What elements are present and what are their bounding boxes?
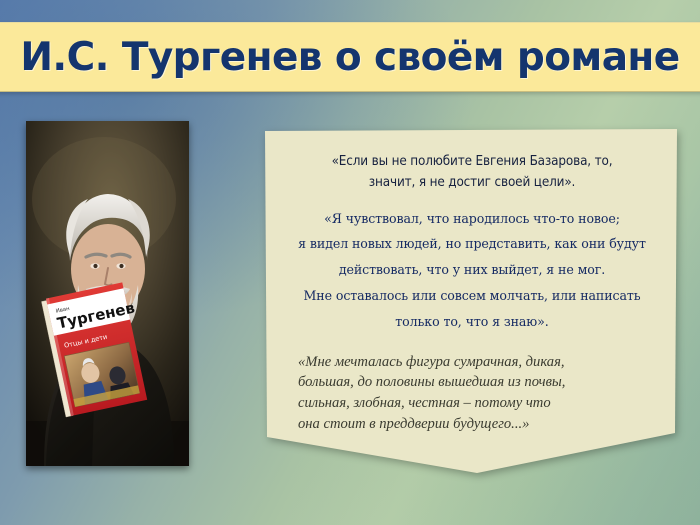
- quote-line: «Я чувствовал, что народилось что-то нов…: [276, 206, 668, 232]
- turgenev-portrait: Иван Тургенев Отцы и дети: [26, 121, 189, 466]
- quote-line: действовать, что у них выйдет, я не мог.: [276, 257, 668, 283]
- portrait-image: Иван Тургенев Отцы и дети: [26, 121, 189, 466]
- quote-line: «Если вы не полюбите Евгения Базарова, т…: [286, 152, 658, 173]
- quote-line: «Мне мечталась фигура сумрачная, дикая,: [298, 352, 662, 373]
- quote-block-1: «Если вы не полюбите Евгения Базарова, т…: [272, 136, 672, 194]
- quote-line: Мне оставалось или совсем молчать, или н…: [276, 283, 668, 309]
- quote-line: только то, что я знаю».: [276, 309, 668, 335]
- quote-line: большая, до половины вышедшая из почвы,: [298, 372, 662, 393]
- slide-canvas: И.С. Тургенев о своём романе: [0, 0, 700, 525]
- quote-block-3: «Мне мечталась фигура сумрачная, дикая, …: [272, 335, 672, 435]
- title-banner: И.С. Тургенев о своём романе: [0, 22, 700, 92]
- quote-block-2: «Я чувствовал, что народилось что-то нов…: [272, 194, 672, 335]
- quote-line: она стоит в преддверии будущего...»: [298, 414, 662, 435]
- quote-line: сильная, злобная, честная – потому что: [298, 393, 662, 414]
- page-title: И.С. Тургенев о своём романе: [20, 35, 679, 80]
- quote-line: значит, я не достиг своей цели».: [286, 173, 658, 194]
- quote-line: я видел новых людей, но представить, как…: [276, 231, 668, 257]
- quote-panel: «Если вы не полюбите Евгения Базарова, т…: [272, 136, 672, 436]
